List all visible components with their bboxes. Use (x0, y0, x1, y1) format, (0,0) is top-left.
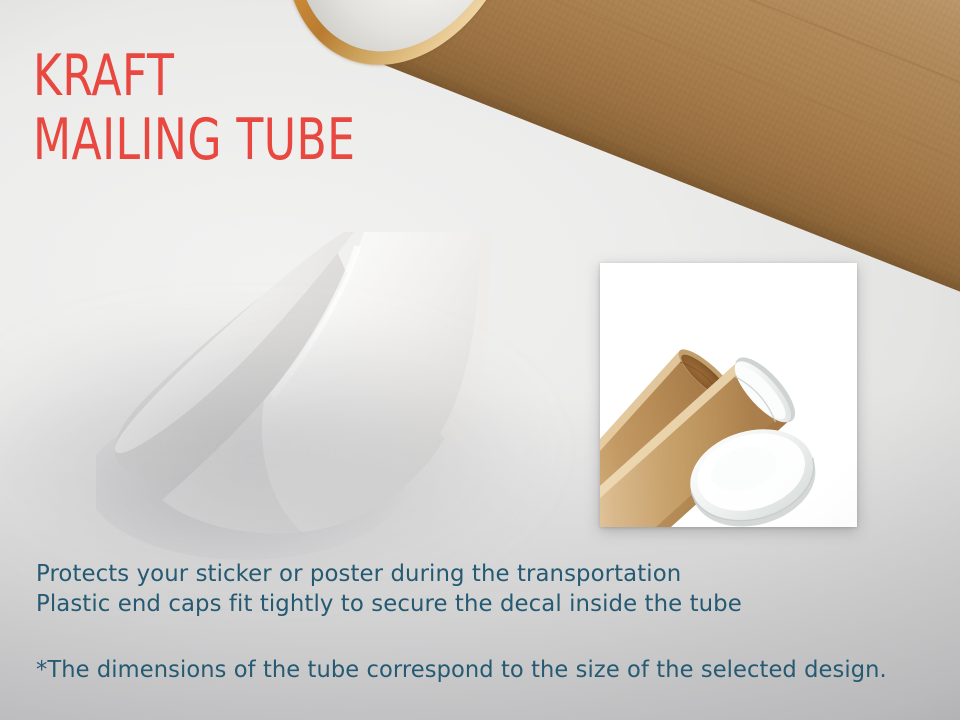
curled-poster (96, 232, 516, 562)
footnote: *The dimensions of the tube correspond t… (36, 655, 936, 683)
page-title: KRAFT MAILING TUBE (33, 49, 653, 167)
headline-line-1: KRAFT (33, 49, 566, 104)
footnote-text: *The dimensions of the tube correspond t… (36, 655, 900, 683)
benefits-list: Protects your sticker or poster during t… (36, 558, 936, 618)
inset-product-photo (600, 263, 857, 527)
poster-canvas: KRAFT MAILING TUBE Protects your sticker… (0, 0, 960, 720)
headline-line-2: MAILING TUBE (33, 113, 566, 168)
benefit-line-2: Plastic end caps fit tightly to secure t… (36, 588, 909, 618)
benefit-line-1: Protects your sticker or poster during t… (36, 558, 909, 588)
